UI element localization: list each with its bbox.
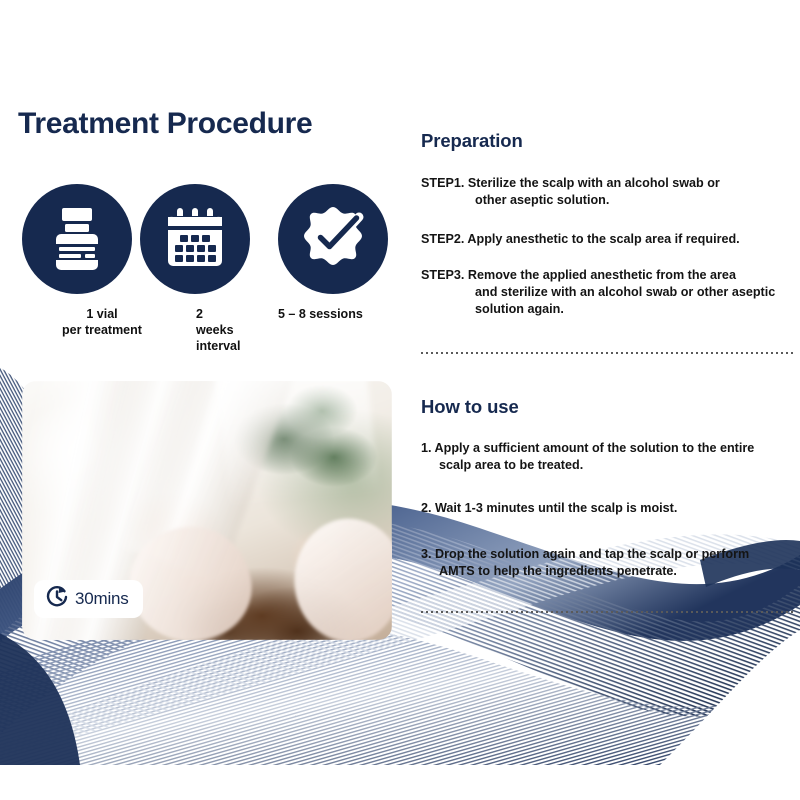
stat-circle-vial (22, 184, 132, 294)
how-to-use-item-2: 2. Wait 1-3 minutes until the scalp is m… (421, 500, 800, 517)
how-to-use-heading: How to use (421, 396, 519, 418)
preparation-heading: Preparation (421, 130, 523, 152)
page-title: Treatment Procedure (18, 107, 312, 141)
duration-badge: 30mins (34, 580, 143, 618)
stats-row: 1 vial per treatment 2 weeks interval 5 … (22, 184, 402, 296)
preparation-step-1: STEP1. Sterilize the scalp with an alcoh… (421, 175, 800, 209)
how-to-use-item-3: 3. Drop the solution again and tap the s… (421, 546, 800, 580)
stat-circle-sessions (278, 184, 388, 294)
treatment-procedure-infographic: Treatment Procedure (0, 0, 800, 800)
clock-refresh-icon (44, 584, 70, 615)
stat-label-vial: 1 vial per treatment (22, 306, 182, 338)
preparation-step-3: STEP3. Remove the applied anesthetic fro… (421, 267, 800, 318)
how-to-use-item-1: 1. Apply a sufficient amount of the solu… (421, 440, 800, 474)
divider-preparation (421, 352, 795, 354)
preparation-step-2: STEP2. Apply anesthetic to the scalp are… (421, 231, 800, 248)
duration-badge-label: 30mins (75, 589, 129, 609)
divider-how-to-use (421, 611, 795, 613)
treatment-photo-card: 30mins (22, 381, 392, 640)
stat-circle-calendar (140, 184, 250, 294)
